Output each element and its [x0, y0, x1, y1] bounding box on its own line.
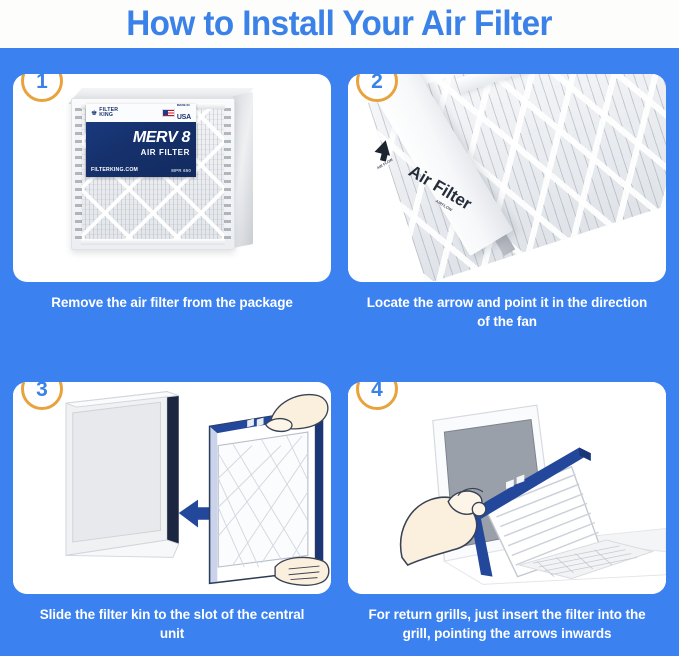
step-1-card: 1	[13, 74, 331, 282]
crown-icon: ♚	[91, 110, 97, 117]
brand-line-2: KING	[99, 112, 113, 118]
header-band: How to Install Your Air Filter	[0, 0, 679, 48]
mpr-rating: MPR 650	[171, 168, 191, 173]
label-footer-strip: FILTERKING.COM MPR 650	[91, 167, 191, 173]
merv-rating: MERV 8	[86, 130, 190, 146]
step-1-caption: Remove the air filter from the package	[13, 293, 331, 312]
infographic-root: How to Install Your Air Filter 1	[0, 0, 679, 656]
filter-front-frame: ♚ FILTER KING	[71, 98, 235, 250]
step-4-card: 4	[348, 382, 666, 594]
step-4-image	[348, 382, 666, 594]
brand-name: FILTER KING	[99, 108, 118, 119]
steps-grid: 1	[0, 48, 679, 656]
step-2-caption: Locate the arrow and point it in the dir…	[348, 293, 666, 331]
step-4-caption: For return grills, just insert the filte…	[348, 605, 666, 643]
hand-bottom	[275, 557, 329, 585]
website-url: FILTERKING.COM	[91, 167, 138, 173]
country-label: USA	[177, 114, 191, 121]
made-in-usa-text: MADE IN USA	[177, 104, 191, 123]
filter-left-rail	[75, 108, 82, 240]
step-3-image	[13, 382, 331, 594]
step-panel-2: 2 AIR FLOW Air Filter AIRFLOW Locate the…	[348, 74, 666, 374]
us-flag-icon	[162, 109, 175, 117]
step-panel-4: 4	[348, 382, 666, 656]
step-2-image: AIR FLOW Air Filter AIRFLOW	[348, 74, 666, 282]
label-header-strip: ♚ FILTER KING	[86, 104, 196, 122]
step-panel-1: 1	[13, 74, 331, 374]
central-unit-slot	[66, 392, 179, 558]
return-grill-diagram	[348, 382, 666, 594]
filter-right-rail	[224, 108, 231, 240]
made-in-label: MADE IN	[177, 104, 191, 107]
filter-product-label: ♚ FILTER KING	[86, 104, 196, 177]
step-1-image: ♚ FILTER KING	[13, 74, 331, 282]
step-panel-3: 3	[13, 382, 331, 656]
filter-side-face	[233, 92, 253, 248]
filter-king-logo: ♚ FILTER KING	[91, 108, 118, 119]
step-2-card: 2 AIR FLOW Air Filter AIRFLOW	[348, 74, 666, 282]
page-title: How to Install Your Air Filter	[127, 4, 553, 44]
filter-bottom-rail	[81, 239, 225, 245]
air-filter-product: ♚ FILTER KING	[71, 88, 253, 258]
label-subtitle: AIR FILTER	[86, 148, 190, 157]
slide-filter-diagram	[13, 382, 331, 594]
made-in-usa-block: MADE IN USA	[162, 104, 191, 123]
step-3-card: 3	[13, 382, 331, 594]
step-3-caption: Slide the filter kin to the slot of the …	[13, 605, 331, 643]
